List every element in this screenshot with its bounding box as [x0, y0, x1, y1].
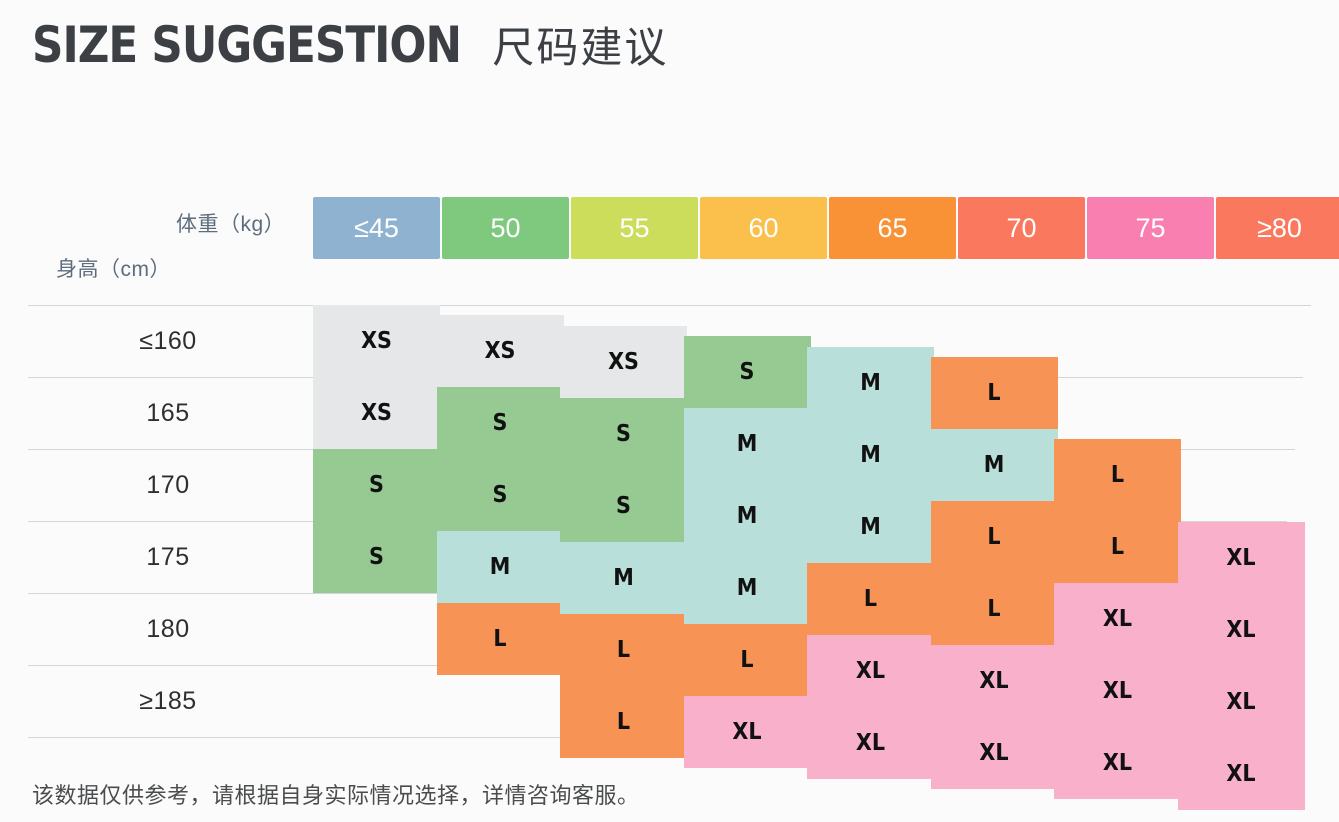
size-cell: XL	[1178, 666, 1305, 738]
size-cell: M	[684, 408, 811, 480]
weight-header-cell: ≥80	[1216, 197, 1339, 259]
size-cell: XS	[313, 377, 440, 449]
size-cell: S	[560, 470, 687, 542]
size-cell: M	[560, 542, 687, 614]
size-cell: S	[560, 398, 687, 470]
weight-header-cell: 70	[958, 197, 1085, 259]
page-title: SIZE SUGGESTION 尺码建议	[32, 14, 668, 75]
height-row-label: 170	[28, 471, 308, 500]
row-separator	[28, 737, 568, 738]
size-cell: XL	[1054, 727, 1181, 799]
size-cell: L	[560, 686, 687, 758]
disclaimer-note: 该数据仅供参考，请根据自身实际情况选择，详情咨询客服。	[32, 778, 640, 810]
size-cell: M	[684, 552, 811, 624]
size-cell: L	[437, 603, 564, 675]
size-cell: L	[1054, 439, 1181, 511]
size-cell: L	[807, 563, 934, 635]
size-cell: XL	[684, 696, 811, 768]
size-cell-empty	[313, 665, 440, 737]
size-cell-empty	[1054, 367, 1181, 439]
size-cell: XL	[1178, 594, 1305, 666]
size-cell: XS	[437, 315, 564, 387]
row-separator	[28, 593, 1279, 594]
size-cell: M	[931, 429, 1058, 501]
size-cell-empty	[437, 675, 564, 747]
size-cell: L	[1054, 511, 1181, 583]
size-cell: M	[684, 480, 811, 552]
height-row-label: ≥185	[28, 687, 308, 716]
size-cell: XL	[807, 635, 934, 707]
weight-header-cell: 55	[571, 197, 698, 259]
weight-axis-label: 体重（kg）	[176, 208, 285, 238]
size-cell: XL	[1178, 522, 1305, 594]
size-cell: XS	[560, 326, 687, 398]
weight-header-cell: 50	[442, 197, 569, 259]
size-cell: S	[313, 449, 440, 521]
row-separator	[28, 305, 1311, 306]
size-cell: L	[684, 624, 811, 696]
size-cell: S	[437, 387, 564, 459]
size-cell: L	[560, 614, 687, 686]
size-matrix: ≤160165170175180≥185XSXSSSXSSSMLXSSSMLLS…	[0, 0, 1339, 822]
size-cell: XL	[1054, 583, 1181, 655]
size-cell: XL	[1054, 655, 1181, 727]
size-cell: S	[313, 521, 440, 593]
size-cell-empty	[313, 593, 440, 665]
size-cell: L	[931, 501, 1058, 573]
row-separator	[28, 665, 1271, 666]
size-cell: M	[807, 347, 934, 419]
size-cell: M	[807, 419, 934, 491]
height-axis-label: 身高（cm）	[56, 253, 171, 283]
size-cell: S	[437, 459, 564, 531]
row-separator	[28, 521, 1287, 522]
size-cell-empty	[1178, 378, 1305, 450]
size-cell: L	[931, 357, 1058, 429]
title-chinese: 尺码建议	[492, 14, 668, 75]
size-cell-empty	[1178, 450, 1305, 522]
size-cell: XL	[807, 707, 934, 779]
size-cell: XL	[931, 645, 1058, 717]
size-cell: S	[684, 336, 811, 408]
height-row-label: 165	[28, 399, 308, 428]
weight-header-cell: 75	[1087, 197, 1214, 259]
size-cell: M	[807, 491, 934, 563]
title-english: SIZE SUGGESTION	[32, 16, 461, 74]
weight-header-cell: 65	[829, 197, 956, 259]
height-row-label: 180	[28, 615, 308, 644]
size-cell: XL	[931, 717, 1058, 789]
weight-header-row: ≤45505560657075≥80	[313, 197, 1339, 259]
weight-header-cell: ≤45	[313, 197, 440, 259]
row-separator	[28, 377, 1303, 378]
size-cell: M	[437, 531, 564, 603]
row-separator	[28, 449, 1295, 450]
height-row-label: ≤160	[28, 327, 308, 356]
weight-header-cell: 60	[700, 197, 827, 259]
size-cell: XL	[1178, 738, 1305, 810]
size-cell: L	[931, 573, 1058, 645]
size-cell: XS	[313, 305, 440, 377]
height-row-label: 175	[28, 543, 308, 572]
